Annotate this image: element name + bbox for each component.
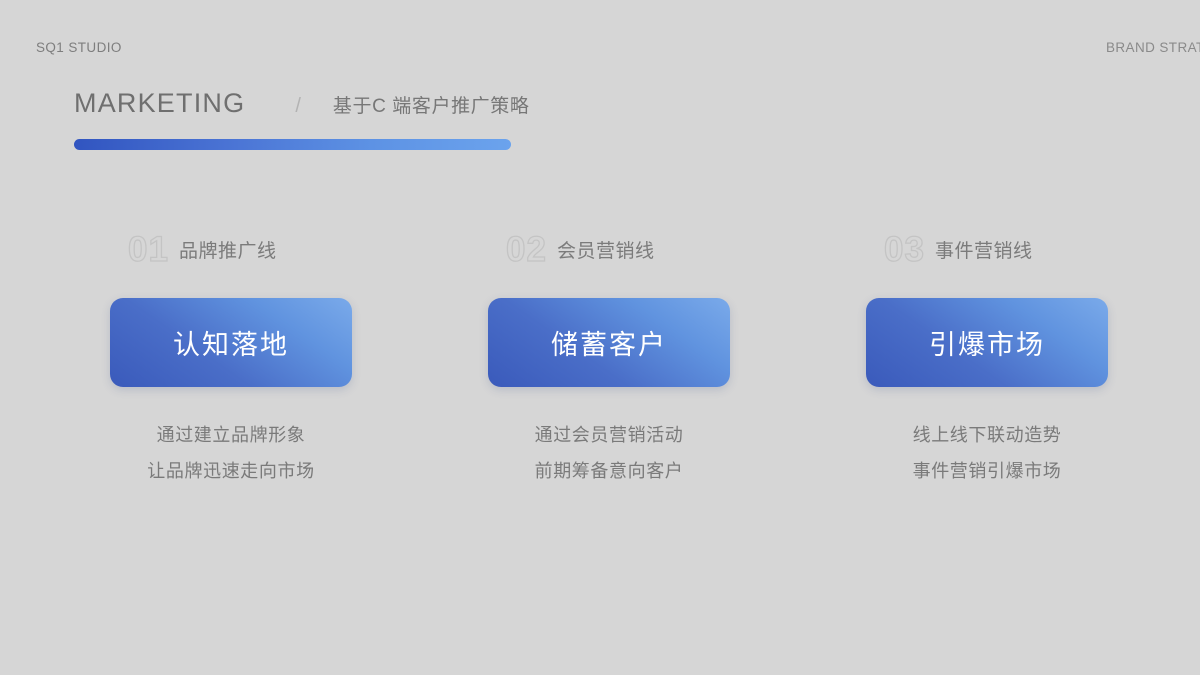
column-number-1: 01 <box>128 232 169 267</box>
title-separator-icon: / <box>295 95 301 118</box>
studio-name: SQ1 STUDIO <box>36 40 122 55</box>
column-description-1: 通过建立品牌形象 让品牌迅速走向市场 <box>86 417 376 489</box>
column-description-3: 线上线下联动造势 事件营销引爆市场 <box>842 417 1132 489</box>
column-header-2: 02 会员营销线 <box>464 228 754 270</box>
column-header-1: 01 品牌推广线 <box>86 228 376 270</box>
description-line: 事件营销引爆市场 <box>842 453 1132 489</box>
strategy-card-3[interactable]: 引爆市场 <box>866 298 1108 387</box>
description-line: 前期筹备意向客户 <box>464 453 754 489</box>
strategy-column-1: 01 品牌推广线 认知落地 通过建立品牌形象 让品牌迅速走向市场 <box>86 228 376 489</box>
slide-header: SQ1 STUDIO BRAND STRAT <box>0 40 1200 62</box>
strategy-column-2: 02 会员营销线 储蓄客户 通过会员营销活动 前期筹备意向客户 <box>464 228 754 489</box>
title-gradient-bar <box>74 139 511 150</box>
page-title: MARKETING <box>74 88 245 119</box>
column-title-1: 品牌推广线 <box>179 236 277 263</box>
description-line: 线上线下联动造势 <box>842 417 1132 453</box>
column-title-2: 会员营销线 <box>557 236 655 263</box>
brand-strategy-label: BRAND STRAT <box>1106 40 1200 55</box>
page-subtitle: 基于C 端客户推广策略 <box>333 91 530 118</box>
column-title-3: 事件营销线 <box>935 236 1033 263</box>
column-header-3: 03 事件营销线 <box>842 228 1132 270</box>
description-line: 通过建立品牌形象 <box>86 417 376 453</box>
column-number-3: 03 <box>884 232 925 267</box>
strategy-card-label-2: 储蓄客户 <box>551 323 667 362</box>
strategy-card-label-1: 认知落地 <box>173 323 289 362</box>
strategy-card-label-3: 引爆市场 <box>929 323 1045 362</box>
slide-title-block: MARKETING / 基于C 端客户推广策略 <box>74 88 774 150</box>
title-row: MARKETING / 基于C 端客户推广策略 <box>74 88 774 124</box>
strategy-card-2[interactable]: 储蓄客户 <box>488 298 730 387</box>
column-number-2: 02 <box>506 232 547 267</box>
description-line: 通过会员营销活动 <box>464 417 754 453</box>
strategy-column-3: 03 事件营销线 引爆市场 线上线下联动造势 事件营销引爆市场 <box>842 228 1132 489</box>
strategy-card-1[interactable]: 认知落地 <box>110 298 352 387</box>
description-line: 让品牌迅速走向市场 <box>86 453 376 489</box>
column-description-2: 通过会员营销活动 前期筹备意向客户 <box>464 417 754 489</box>
